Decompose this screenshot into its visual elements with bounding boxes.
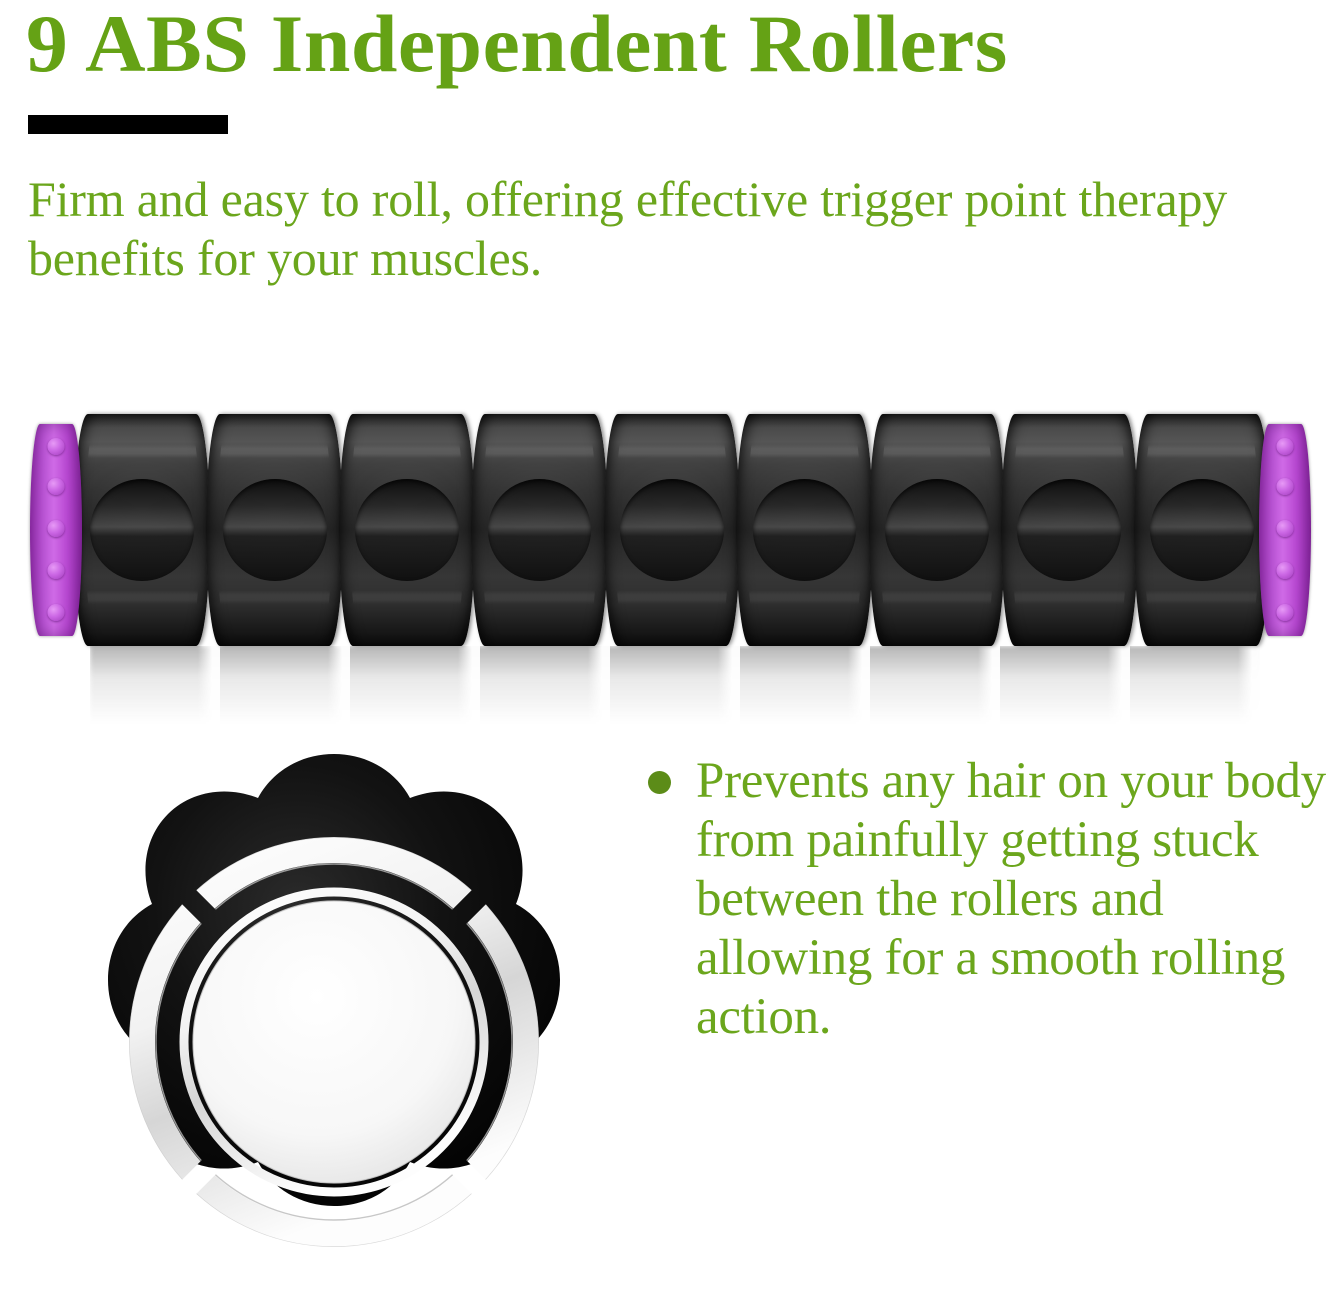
roller-floor-reflection [90, 646, 1260, 724]
collar-bump [48, 562, 65, 579]
collar-bump [1277, 604, 1294, 621]
page-title: 9 ABS Independent Rollers [26, 0, 1341, 92]
collar-bump [1277, 520, 1294, 537]
collar-bump [48, 520, 65, 537]
page-subtitle: Firm and easy to roll, offering effectiv… [28, 170, 1323, 288]
roller-segment [74, 414, 210, 646]
roller-segment [1134, 414, 1270, 646]
end-cap-hub [193, 901, 475, 1183]
roller-end-cap-image [56, 742, 612, 1302]
roller-segment [604, 414, 740, 646]
purple-grip-collar-left [30, 424, 82, 636]
collar-bump [48, 478, 65, 495]
collar-bump [48, 604, 65, 621]
feature-item-text: Prevents any hair on your body from pain… [696, 752, 1341, 1047]
feature-list: Prevents any hair on your body from pain… [648, 752, 1341, 1047]
collar-bump [48, 438, 65, 455]
massage-roller-product-image [0, 398, 1341, 663]
header-section: 9 ABS Independent Rollers Firm and easy … [0, 0, 1341, 300]
purple-grip-collar-right [1259, 424, 1311, 636]
title-divider-rule [28, 115, 228, 134]
roller-segment-group [76, 414, 1268, 646]
collar-bump [1277, 438, 1294, 455]
roller-segment [1001, 414, 1137, 646]
roller-segment [869, 414, 1005, 646]
collar-bump [1277, 562, 1294, 579]
roller-segment [206, 414, 342, 646]
roller-segment [736, 414, 872, 646]
roller-segment [471, 414, 607, 646]
roller-segment [339, 414, 475, 646]
bullet-dot-icon [648, 771, 671, 794]
collar-bump [1277, 478, 1294, 495]
feature-item: Prevents any hair on your body from pain… [648, 752, 1341, 1047]
